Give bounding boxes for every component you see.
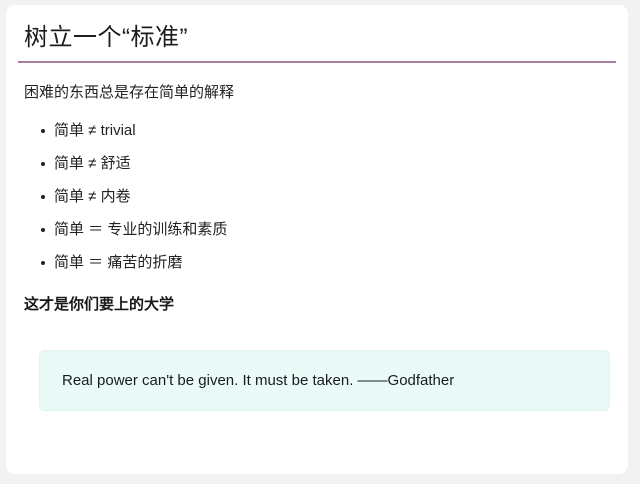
list-item-label: 简单 ≠ 舒适 — [54, 155, 131, 172]
bullet-dot-icon — [41, 129, 45, 133]
slide-card: 树立一个“标准” 困难的东西总是存在简单的解释 简单 ≠ trivial 简单 … — [6, 5, 628, 474]
title-underline-rule — [18, 61, 616, 63]
list-item: 简单 ≠ 内卷 — [24, 180, 227, 213]
list-item-label: 简单 ＝ 专业的训练和素质 — [54, 221, 227, 238]
emphasis-line: 这才是你们要上的大学 — [24, 293, 174, 317]
list-item-label: 简单 ＝ 痛苦的折磨 — [54, 254, 182, 271]
page-title: 树立一个“标准” — [24, 21, 188, 55]
bullet-dot-icon — [41, 162, 45, 166]
list-item-label: 简单 ≠ trivial — [54, 122, 136, 139]
bullet-dot-icon — [41, 228, 45, 232]
list-item: 简单 ≠ trivial — [24, 114, 227, 147]
quote-text: Real power can't be given. It must be ta… — [62, 351, 597, 410]
bullet-list: 简单 ≠ trivial 简单 ≠ 舒适 简单 ≠ 内卷 简单 ＝ 专业的训练和… — [24, 114, 227, 279]
lead-paragraph: 困难的东西总是存在简单的解释 — [24, 81, 234, 105]
list-item: 简单 ≠ 舒适 — [24, 147, 227, 180]
list-item: 简单 ＝ 专业的训练和素质 — [24, 213, 227, 246]
list-item: 简单 ＝ 痛苦的折磨 — [24, 246, 227, 279]
quote-callout-box: Real power can't be given. It must be ta… — [39, 350, 610, 411]
bullet-dot-icon — [41, 261, 45, 265]
list-item-label: 简单 ≠ 内卷 — [54, 188, 131, 205]
bullet-dot-icon — [41, 195, 45, 199]
